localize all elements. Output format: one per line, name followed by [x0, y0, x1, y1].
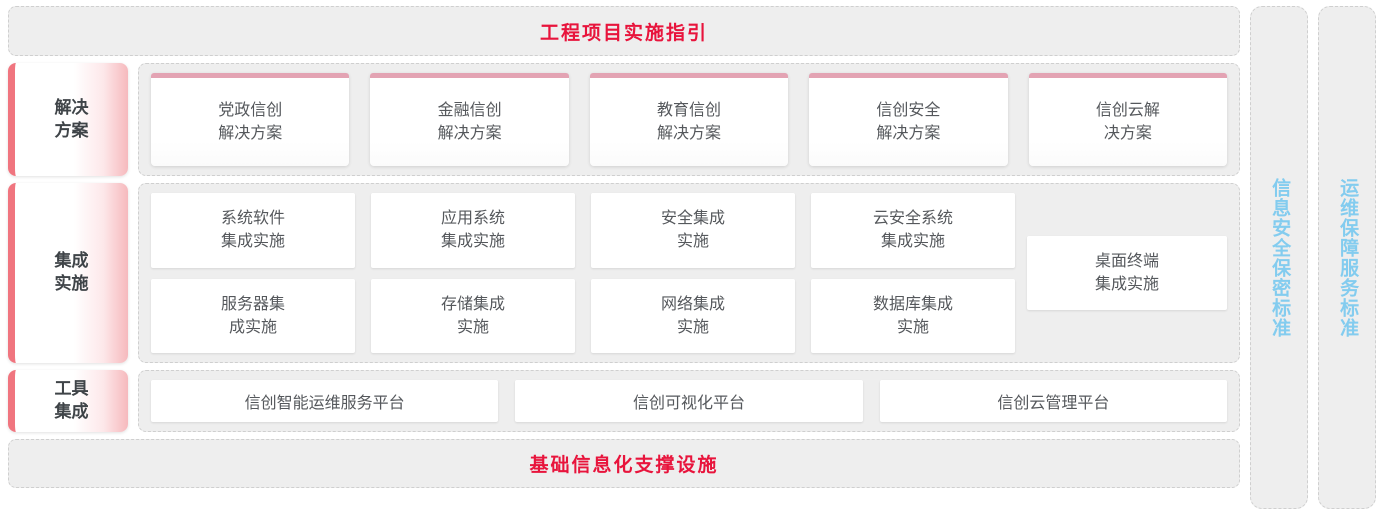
integration-cell[interactable]: 服务器集 成实施 — [151, 279, 355, 354]
integration-cell-label: 服务器集 成实施 — [221, 293, 285, 339]
tool-card[interactable]: 信创云管理平台 — [880, 380, 1227, 422]
solution-card[interactable]: 信创云解 决方案 — [1029, 73, 1227, 166]
diagram-root: 工程项目实施指引 解决 方案 党政信创 解决方案 金融信创 解决方案 教育信创 … — [0, 0, 1390, 515]
header-banner: 工程项目实施指引 — [8, 6, 1240, 56]
integration-cell-label: 网络集成 实施 — [661, 293, 725, 339]
pillar-security-standard[interactable]: 信息安全保密标准 — [1250, 6, 1308, 509]
tool-card-label: 信创智能运维服务平台 — [245, 389, 405, 413]
solution-card[interactable]: 教育信创 解决方案 — [590, 73, 788, 166]
solution-card[interactable]: 信创安全 解决方案 — [809, 73, 1007, 166]
row-tools: 工具 集成 信创智能运维服务平台 信创可视化平台 信创云管理平台 — [8, 370, 1240, 432]
row-label-solutions-text: 解决 方案 — [55, 97, 89, 143]
solution-card-label: 信创安全 解决方案 — [876, 99, 940, 145]
solution-card-label: 教育信创 解决方案 — [657, 99, 721, 145]
pillar-operations-standard-label: 运维保障服务标准 — [1335, 178, 1359, 338]
row-label-tools[interactable]: 工具 集成 — [8, 370, 128, 432]
row-body-tools: 信创智能运维服务平台 信创可视化平台 信创云管理平台 — [138, 370, 1240, 432]
integration-cell-label: 应用系统 集成实施 — [441, 207, 505, 253]
integration-cell[interactable]: 数据库集成 实施 — [811, 279, 1015, 354]
tool-card-grid: 信创智能运维服务平台 信创可视化平台 信创云管理平台 — [151, 380, 1227, 422]
solution-card-label: 信创云解 决方案 — [1096, 99, 1160, 145]
integration-cell-label: 数据库集成 实施 — [873, 293, 953, 339]
integration-spanning-label: 桌面终端 集成实施 — [1095, 250, 1159, 296]
integration-spanning-cell[interactable]: 桌面终端 集成实施 — [1027, 236, 1227, 310]
solution-card-grid: 党政信创 解决方案 金融信创 解决方案 教育信创 解决方案 信创安全 解决方案 … — [151, 73, 1227, 166]
integration-cell-label: 云安全系统 集成实施 — [873, 207, 953, 253]
tool-card-label: 信创云管理平台 — [997, 389, 1109, 413]
page-title: 工程项目实施指引 — [540, 18, 708, 45]
integration-grid: 系统软件 集成实施 应用系统 集成实施 安全集成 实施 云安全系统 集成实施 服 — [151, 193, 1015, 353]
row-label-integration[interactable]: 集成 实施 — [8, 183, 128, 363]
solution-card[interactable]: 金融信创 解决方案 — [370, 73, 568, 166]
integration-cell[interactable]: 网络集成 实施 — [591, 279, 795, 354]
tool-card[interactable]: 信创可视化平台 — [515, 380, 862, 422]
pillar-column-group: 信息安全保密标准 运维保障服务标准 — [1250, 6, 1376, 509]
integration-cell[interactable]: 存储集成 实施 — [371, 279, 575, 354]
solution-card[interactable]: 党政信创 解决方案 — [151, 73, 349, 166]
integration-cell-label: 安全集成 实施 — [661, 207, 725, 253]
row-label-tools-text: 工具 集成 — [55, 378, 89, 424]
row-body-solutions: 党政信创 解决方案 金融信创 解决方案 教育信创 解决方案 信创安全 解决方案 … — [138, 63, 1240, 176]
pillar-operations-standard[interactable]: 运维保障服务标准 — [1318, 6, 1376, 509]
solution-card-label: 党政信创 解决方案 — [218, 99, 282, 145]
solution-card-label: 金融信创 解决方案 — [438, 99, 502, 145]
row-label-integration-text: 集成 实施 — [55, 250, 89, 296]
row-label-solutions[interactable]: 解决 方案 — [8, 63, 128, 176]
integration-spanning-column: 桌面终端 集成实施 — [1027, 193, 1227, 353]
integration-cell[interactable]: 云安全系统 集成实施 — [811, 193, 1015, 268]
footer-banner: 基础信息化支撑设施 — [8, 439, 1240, 488]
tool-card-label: 信创可视化平台 — [633, 389, 745, 413]
main-column: 工程项目实施指引 解决 方案 党政信创 解决方案 金融信创 解决方案 教育信创 … — [8, 6, 1240, 509]
footer-title: 基础信息化支撑设施 — [529, 450, 718, 477]
integration-cell-label: 存储集成 实施 — [441, 293, 505, 339]
row-integration: 集成 实施 系统软件 集成实施 应用系统 集成实施 安全集成 实施 — [8, 183, 1240, 363]
integration-cell-label: 系统软件 集成实施 — [221, 207, 285, 253]
pillar-security-standard-label: 信息安全保密标准 — [1267, 178, 1291, 338]
integration-cell[interactable]: 系统软件 集成实施 — [151, 193, 355, 268]
integration-cell[interactable]: 应用系统 集成实施 — [371, 193, 575, 268]
integration-cell[interactable]: 安全集成 实施 — [591, 193, 795, 268]
integration-wrap: 系统软件 集成实施 应用系统 集成实施 安全集成 实施 云安全系统 集成实施 服 — [151, 193, 1227, 353]
row-body-integration: 系统软件 集成实施 应用系统 集成实施 安全集成 实施 云安全系统 集成实施 服 — [138, 183, 1240, 363]
tool-card[interactable]: 信创智能运维服务平台 — [151, 380, 498, 422]
row-solutions: 解决 方案 党政信创 解决方案 金融信创 解决方案 教育信创 解决方案 信创安全… — [8, 63, 1240, 176]
